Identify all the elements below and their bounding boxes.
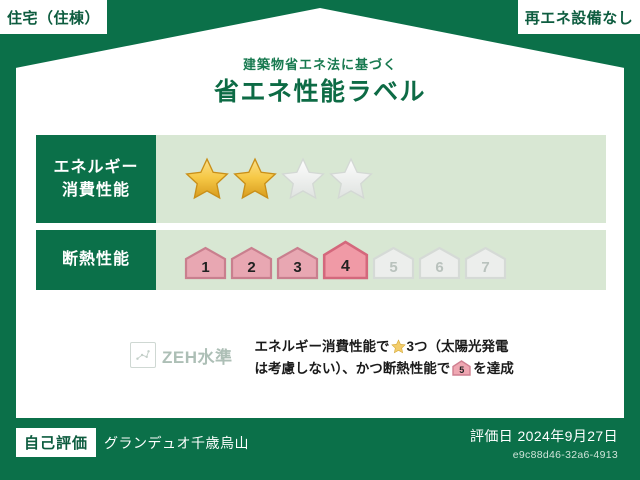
evaluation-id: e9c88d46-32a6-4913 — [470, 449, 618, 461]
insulation-level-4: 4 — [322, 240, 369, 280]
insulation-level-4-number: 4 — [322, 259, 369, 275]
evaluation-date: 評価日 2024年9月27日 — [470, 426, 618, 446]
insulation-level-3-number: 3 — [276, 260, 319, 275]
zeh-desc-text-2: 3つ（太陽光発電 — [407, 339, 509, 354]
insulation-performance-value: 1 2 3 4 — [156, 230, 606, 290]
insulation-level-2: 2 — [230, 246, 273, 280]
housing-type-tag: 住宅（住棟） — [0, 0, 107, 34]
zeh-desc-text-4: を達成 — [473, 361, 514, 376]
star-icon-empty-4 — [328, 156, 374, 202]
house-icon-inline-number: 5 — [452, 366, 471, 375]
house-icon-inline: 5 — [452, 360, 471, 376]
insulation-level-5: 5 — [372, 246, 415, 280]
title-subtitle: 建築物省エネ法に基づく — [0, 57, 640, 73]
insulation-level-3: 3 — [276, 246, 319, 280]
energy-performance-value — [156, 135, 606, 223]
energy-label-line2: 消費性能 — [62, 179, 130, 202]
star-rating — [184, 156, 374, 202]
zeh-icon — [130, 342, 156, 368]
star-icon-filled-2 — [232, 156, 278, 202]
insulation-level-6: 6 — [418, 246, 461, 280]
evaluation-type-tag: 自己評価 — [16, 428, 96, 457]
insulation-level-6-number: 6 — [418, 260, 461, 275]
zeh-desc-text-3: は考慮しない）、かつ断熱性能で — [255, 361, 451, 376]
zeh-standard-badge: ZEH水準 — [130, 342, 233, 368]
star-icon-inline — [391, 339, 406, 354]
zeh-note-section: ZEH水準 エネルギー消費性能で3つ（太陽光発電 は考慮しない）、かつ断熱性能で… — [130, 336, 514, 381]
insulation-level-7: 7 — [464, 246, 507, 280]
star-icon-empty-3 — [280, 156, 326, 202]
insulation-performance-row: 断熱性能 1 2 — [36, 230, 606, 290]
insulation-level-1-number: 1 — [184, 260, 227, 275]
energy-performance-label: エネルギー 消費性能 — [36, 135, 156, 223]
footer-meta: 評価日 2024年9月27日 e9c88d46-32a6-4913 — [470, 426, 618, 461]
footer: 自己評価 グランデュオ千歳烏山 評価日 2024年9月27日 e9c88d46-… — [0, 418, 640, 480]
insulation-level-2-number: 2 — [230, 260, 273, 275]
zeh-desc-text-1: エネルギー消費性能で — [255, 339, 390, 354]
zeh-description-line1: エネルギー消費性能で3つ（太陽光発電 — [255, 336, 514, 358]
zeh-label: ZEH水準 — [162, 343, 233, 368]
insulation-level-1: 1 — [184, 246, 227, 280]
energy-label-line1: エネルギー — [53, 156, 138, 179]
energy-performance-row: エネルギー 消費性能 — [36, 135, 606, 223]
building-name: グランデュオ千歳烏山 — [104, 433, 249, 453]
zeh-description: エネルギー消費性能で3つ（太陽光発電 は考慮しない）、かつ断熱性能で5を達成 — [255, 336, 514, 381]
insulation-level-7-number: 7 — [464, 260, 507, 275]
zeh-description-line2: は考慮しない）、かつ断熱性能で5を達成 — [255, 358, 514, 380]
renewable-energy-tag: 再エネ設備なし — [518, 0, 640, 34]
insulation-performance-label: 断熱性能 — [36, 230, 156, 290]
page-title: 建築物省エネ法に基づく 省エネ性能ラベル — [0, 57, 640, 109]
star-icon-filled-1 — [184, 156, 230, 202]
insulation-label-line1: 断熱性能 — [62, 248, 130, 271]
performance-rows: エネルギー 消費性能 — [36, 135, 606, 297]
insulation-level-scale: 1 2 3 4 — [184, 240, 507, 280]
insulation-level-5-number: 5 — [372, 260, 415, 275]
title-main: 省エネ性能ラベル — [0, 76, 640, 110]
